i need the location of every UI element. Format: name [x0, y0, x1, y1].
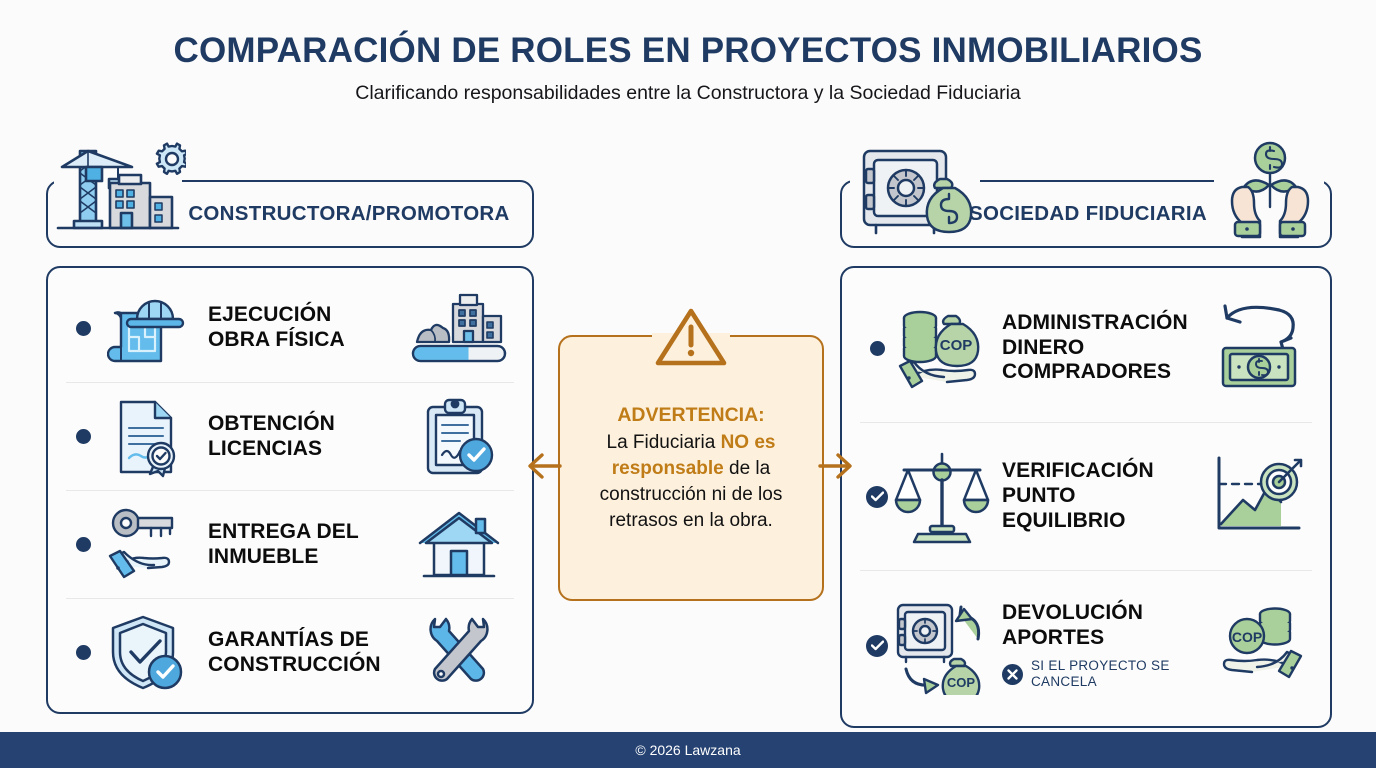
arrow-right-icon — [818, 450, 854, 487]
page-footer: © 2026 Lawzana — [0, 732, 1376, 768]
warning-title: ADVERTENCIA: — [617, 404, 764, 427]
check-circle-icon — [866, 486, 888, 508]
building-progress-icon — [404, 290, 514, 366]
label-line-2: CONSTRUCCIÓN — [208, 653, 404, 678]
label-line-1: VERIFICACIÓN — [1002, 459, 1202, 484]
label-line-2: PUNTO — [1002, 484, 1202, 509]
label-line-1: OBTENCIÓN — [208, 412, 404, 437]
label-line-1: ENTREGA DEL — [208, 520, 404, 545]
crane-building-gear-icon — [56, 133, 186, 244]
safe-moneybag-icon — [852, 139, 980, 244]
blueprint-helmet-icon — [100, 289, 196, 367]
list-item-label: DEVOLUCIÓN APORTES SI EL PROYECTO SE CAN… — [990, 601, 1202, 690]
bullet-marker — [860, 486, 894, 508]
warning-triangle-icon — [654, 305, 728, 374]
bullet-marker — [860, 341, 894, 356]
list-item[interactable]: VERIFICACIÓN PUNTO EQUILIBRIO — [860, 422, 1312, 570]
certificate-document-icon — [100, 396, 196, 478]
growth-target-chart-icon — [1202, 454, 1312, 540]
list-item[interactable]: GARANTÍAS DE CONSTRUCCIÓN — [66, 598, 514, 706]
svg-text:COP: COP — [1232, 629, 1262, 645]
left-panel-body: EJECUCIÓN OBRA FÍSICA — [46, 266, 534, 714]
label-line-2: OBRA FÍSICA — [208, 328, 404, 353]
right-panel-body: COP ADMINISTRACIÓN DINERO COMPRADORES — [840, 266, 1332, 728]
bullet-marker — [66, 321, 100, 336]
label-line-2: INMUEBLE — [208, 545, 404, 570]
safe-return-moneybag-icon: COP — [894, 597, 990, 695]
list-item[interactable]: COP ADMINISTRACIÓN DINERO COMPRADORES — [860, 274, 1312, 422]
list-item[interactable]: ENTREGA DEL INMUEBLE — [66, 490, 514, 598]
list-item-label: OBTENCIÓN LICENCIAS — [196, 412, 404, 462]
list-item-label: ENTREGA DEL INMUEBLE — [196, 520, 404, 570]
list-item-label: ADMINISTRACIÓN DINERO COMPRADORES — [990, 311, 1202, 385]
list-item-label: EJECUCIÓN OBRA FÍSICA — [196, 303, 404, 353]
arrow-left-icon — [526, 450, 562, 487]
hands-plant-money-icon — [1218, 139, 1322, 244]
clipboard-check-icon — [404, 395, 514, 479]
label-line-2: LICENCIAS — [208, 437, 404, 462]
label-line-1: DEVOLUCIÓN — [1002, 601, 1202, 626]
svg-text:COP: COP — [940, 337, 973, 354]
bullet-marker — [66, 645, 100, 660]
label-line-1: EJECUCIÓN — [208, 303, 404, 328]
house-icon — [404, 507, 514, 583]
page-header: COMPARACIÓN DE ROLES EN PROYECTOS INMOBI… — [0, 32, 1376, 105]
label-line-3: EQUILIBRIO — [1002, 509, 1202, 534]
coins-moneybag-hand-icon: COP — [894, 302, 990, 394]
list-item-label: GARANTÍAS DE CONSTRUCCIÓN — [196, 628, 404, 678]
warning-callout: ADVERTENCIA: La Fiduciaria NO es respons… — [558, 335, 824, 601]
label-line-1: ADMINISTRACIÓN — [1002, 311, 1202, 336]
list-item[interactable]: COP DEVOLUCIÓN APORTES SI EL PROYECTO SE… — [860, 570, 1312, 720]
bullet-marker — [66, 429, 100, 444]
label-line-1: GARANTÍAS DE — [208, 628, 404, 653]
svg-text:COP: COP — [947, 675, 976, 690]
wrench-screwdriver-icon — [404, 613, 514, 693]
label-line-2: DINERO — [1002, 336, 1202, 361]
infographic-canvas: COMPARACIÓN DE ROLES EN PROYECTOS INMOBI… — [0, 0, 1376, 768]
page-subtitle: Clarificando responsabilidades entre la … — [0, 82, 1376, 105]
copyright-text: © 2026 Lawzana — [635, 742, 740, 758]
list-item-subnote: SI EL PROYECTO SE CANCELA — [1002, 658, 1202, 690]
right-panel-badge: SOCIEDAD FIDUCIARIA — [840, 180, 1332, 248]
coins-hand-icon: COP — [1202, 604, 1312, 688]
key-in-hand-icon — [100, 506, 196, 584]
x-circle-icon — [1002, 664, 1023, 685]
list-item[interactable]: EJECUCIÓN OBRA FÍSICA — [66, 274, 514, 382]
page-title: COMPARACIÓN DE ROLES EN PROYECTOS INMOBI… — [0, 32, 1376, 71]
money-transfer-icon — [1202, 304, 1312, 392]
label-line-3: COMPRADORES — [1002, 360, 1202, 385]
list-item[interactable]: OBTENCIÓN LICENCIAS — [66, 382, 514, 490]
right-panel-fiduciaria: SOCIEDAD FIDUCIARIA — [840, 180, 1332, 728]
check-circle-icon — [866, 635, 888, 657]
balance-scale-icon — [894, 450, 990, 544]
label-line-2: APORTES — [1002, 626, 1202, 651]
warning-text: La Fiduciaria NO es responsable de la co… — [578, 430, 804, 534]
left-panel-badge: CONSTRUCTORA/PROMOTORA — [46, 180, 534, 248]
warning-text-part1: La Fiduciaria — [607, 432, 721, 453]
shield-check-icon — [100, 612, 196, 694]
list-item-label: VERIFICACIÓN PUNTO EQUILIBRIO — [990, 459, 1202, 533]
left-panel-constructora: CONSTRUCTORA/PROMOTORA — [46, 180, 534, 714]
bullet-marker — [66, 537, 100, 552]
subnote-text: SI EL PROYECTO SE CANCELA — [1031, 658, 1202, 690]
bullet-marker — [860, 635, 894, 657]
